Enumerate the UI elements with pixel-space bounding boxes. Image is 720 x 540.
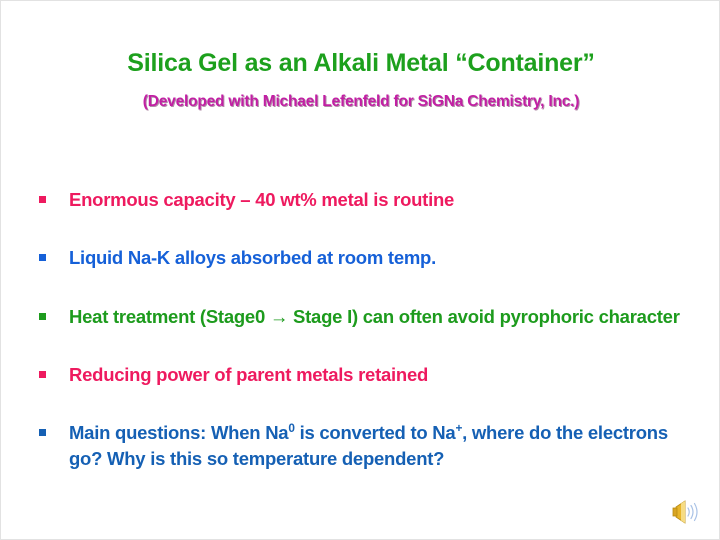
- bullet-list: Enormous capacity – 40 wt% metal is rout…: [39, 187, 699, 471]
- list-item: Liquid Na-K alloys absorbed at room temp…: [39, 245, 699, 270]
- speaker-body: [673, 501, 685, 523]
- bullet-3-segment-after: Stage I) can often avoid pyrophoric char…: [288, 306, 680, 327]
- speaker-icon-svg: [671, 499, 701, 525]
- slide-subtitle: (Developed with Michael Lefenfeld for Si…: [1, 93, 720, 111]
- bullet-text-1: Enormous capacity – 40 wt% metal is rout…: [69, 187, 699, 212]
- bullet-text-4: Reducing power of parent metals retained: [69, 362, 699, 387]
- list-item: Heat treatment (Stage0 → Stage I) can of…: [39, 304, 699, 329]
- speaker-icon[interactable]: [671, 499, 701, 525]
- square-bullet-icon: [39, 371, 46, 378]
- bullet-text-2: Liquid Na-K alloys absorbed at room temp…: [69, 245, 699, 270]
- title-block: Silica Gel as an Alkali Metal “Container…: [1, 49, 720, 111]
- right-arrow-icon: →: [270, 306, 288, 327]
- bullet-text-3: Heat treatment (Stage0 → Stage I) can of…: [69, 304, 699, 329]
- slide-canvas: Silica Gel as an Alkali Metal “Container…: [0, 0, 720, 540]
- bullet-3-segment-before: Heat treatment (Stage0: [69, 306, 270, 327]
- sound-waves: [688, 504, 697, 521]
- list-item: Main questions: When Na0 is converted to…: [39, 420, 699, 471]
- list-item: Reducing power of parent metals retained: [39, 362, 699, 387]
- slide-title: Silica Gel as an Alkali Metal “Container…: [1, 49, 720, 77]
- square-bullet-icon: [39, 196, 46, 203]
- bullet-5-segment-1: Main questions: When Na: [69, 422, 288, 443]
- square-bullet-icon: [39, 429, 46, 436]
- square-bullet-icon: [39, 313, 46, 320]
- bullet-5-segment-2: is converted to Na: [295, 422, 456, 443]
- square-bullet-icon: [39, 254, 46, 261]
- bullet-text-5: Main questions: When Na0 is converted to…: [69, 420, 699, 471]
- list-item: Enormous capacity – 40 wt% metal is rout…: [39, 187, 699, 212]
